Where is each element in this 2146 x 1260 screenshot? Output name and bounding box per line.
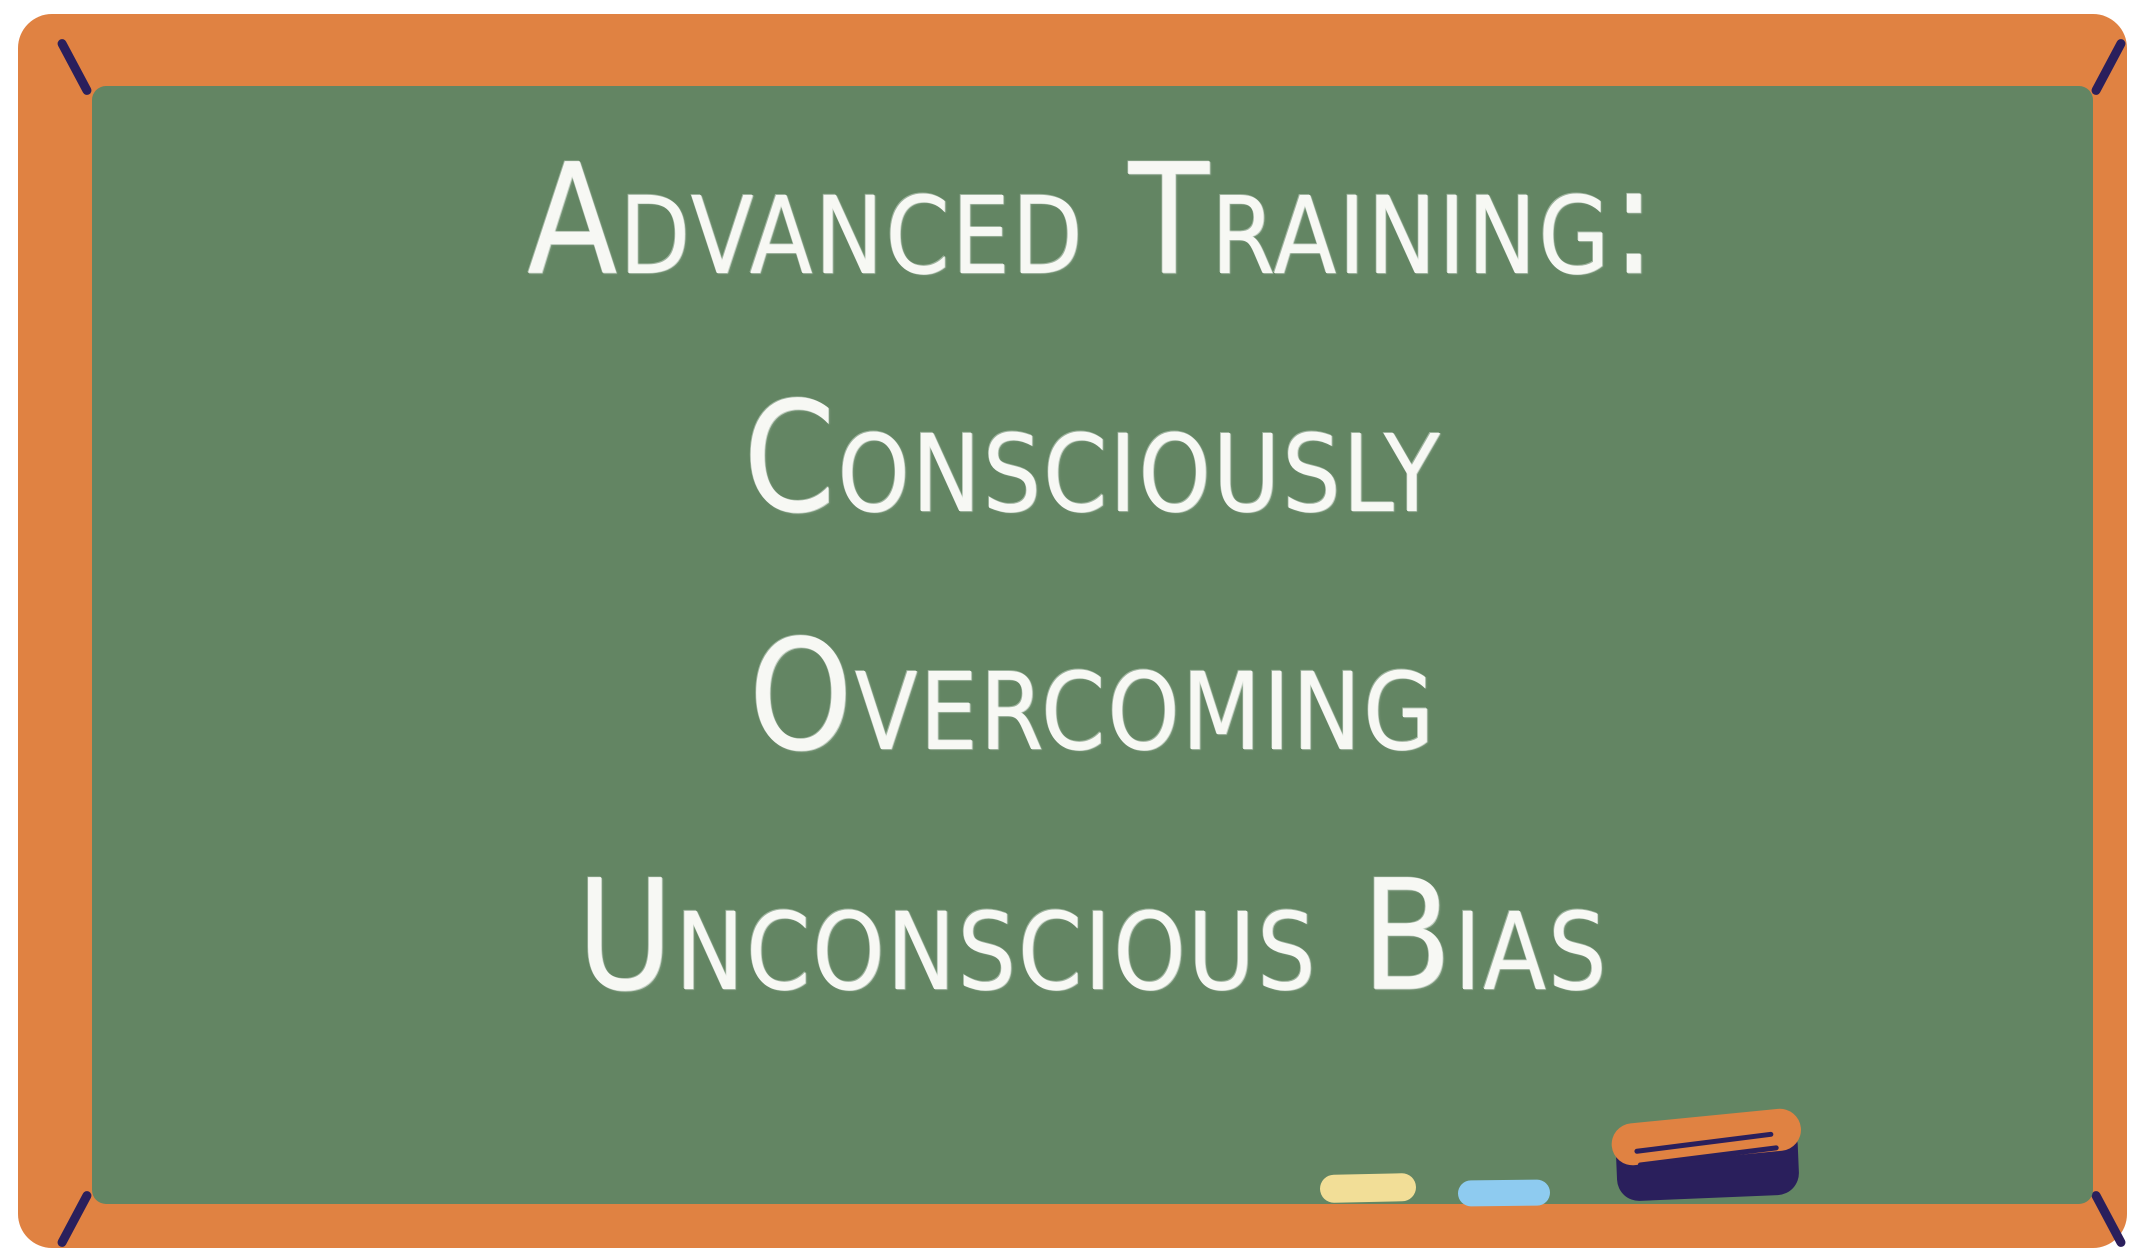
title-line-1: Advanced Training:: [527, 144, 1658, 297]
title-line-4: Unconscious Bias: [577, 860, 1609, 1013]
top-left-corner-mark: [56, 38, 93, 97]
chalkboard-surface: Advanced Training: Consciously Overcomin…: [92, 86, 2093, 1204]
title-line-3: Overcoming: [749, 620, 1437, 773]
slide-canvas: Advanced Training: Consciously Overcomin…: [0, 0, 2146, 1260]
chalkboard-frame: Advanced Training: Consciously Overcomin…: [18, 14, 2127, 1248]
chalkboard-title-block: Advanced Training: Consciously Overcomin…: [92, 86, 2093, 1204]
bottom-left-corner-mark: [56, 1190, 93, 1249]
blue-chalk-icon: [1458, 1180, 1550, 1207]
bottom-right-corner-mark: [2090, 1190, 2127, 1249]
yellow-chalk-icon: [1320, 1173, 1417, 1203]
title-line-2: Consciously: [743, 382, 1442, 535]
top-right-corner-mark: [2090, 38, 2127, 97]
board-eraser-icon: [1610, 1096, 1804, 1210]
